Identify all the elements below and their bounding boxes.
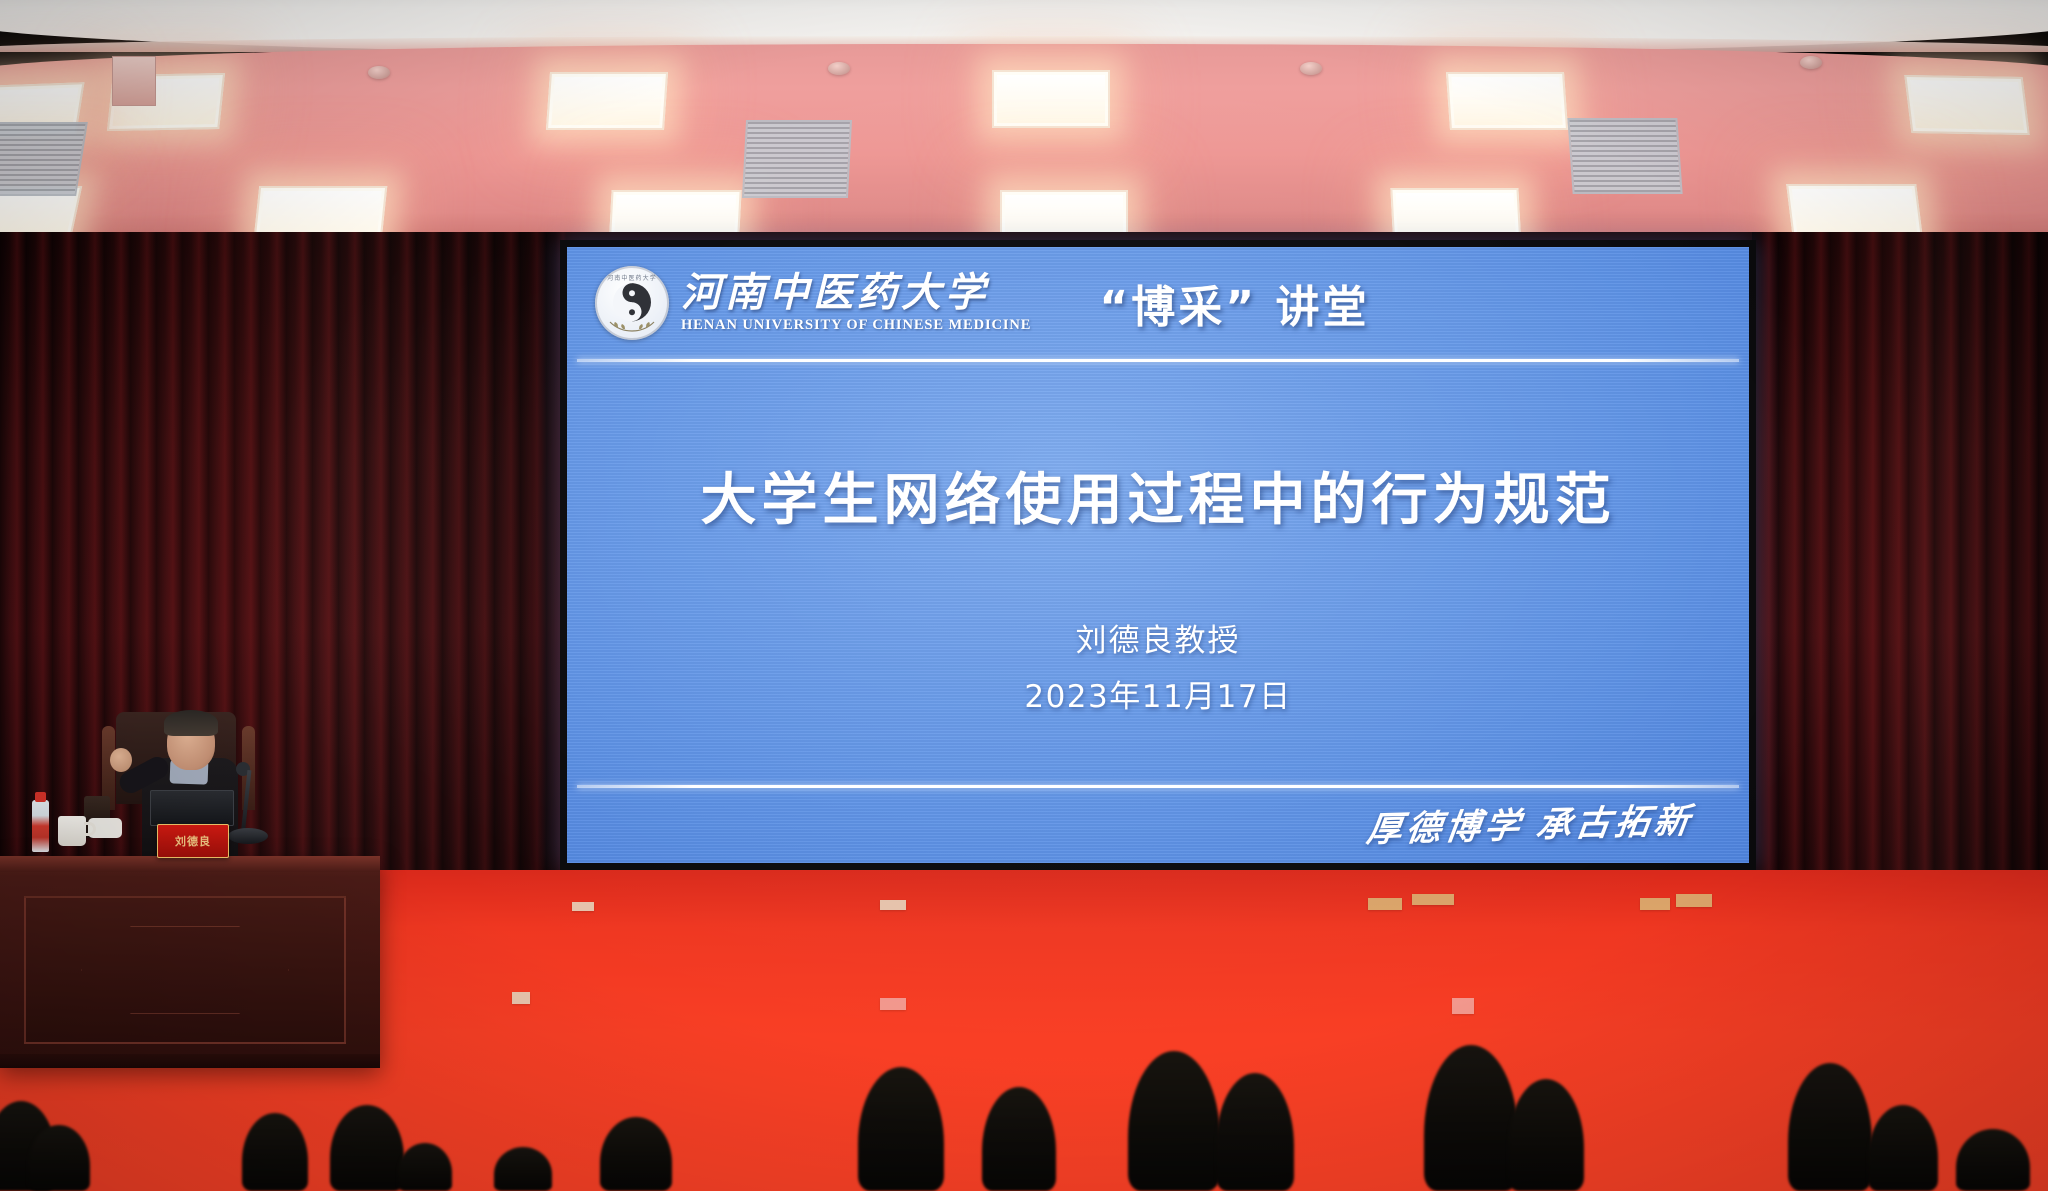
slide-main-title: 大学生网络使用过程中的行为规范 [567, 455, 1749, 536]
nameplate-text: 刘德良 [175, 833, 211, 849]
water-bottle [32, 800, 49, 852]
university-logo: 河南中医药大学 [595, 266, 669, 340]
floor-marker [880, 900, 906, 910]
speaker-hair [164, 710, 218, 736]
podium-base-trim [0, 1054, 380, 1068]
ceiling-light-panel [992, 70, 1110, 128]
podium-desktop [0, 856, 380, 872]
ceiling-speaker-box [112, 56, 156, 106]
wheat-branch-icon [606, 316, 658, 332]
slide-divider-bottom [577, 785, 1739, 788]
auditorium-scene: 河南中医药大学 河南中医药大学 [0, 0, 2048, 1191]
bottle-cap [35, 792, 46, 802]
university-wordmark: 河南中医药大学 HENAN UNIVERSITY OF CHINESE MEDI… [681, 273, 1031, 333]
taiji-dot-light [629, 290, 635, 296]
ceiling-light-panel [546, 72, 668, 130]
microphone-base [228, 828, 268, 844]
smoke-detector-icon [1300, 62, 1322, 75]
ceiling-light-panel [1904, 75, 2029, 135]
podium-diamond-inlay [81, 926, 289, 1014]
hvac-vent-grille [0, 122, 88, 196]
slide-divider-top [577, 359, 1739, 362]
floor-marker [1412, 894, 1454, 905]
floor-marker [572, 902, 594, 911]
university-name-cn: 河南中医药大学 [681, 273, 1031, 313]
podium-front-panel [24, 896, 346, 1044]
speaker-nameplate: 刘德良 [157, 824, 229, 858]
hvac-vent-grille [742, 120, 852, 198]
smoke-detector-icon [368, 66, 390, 79]
smoke-detector-icon [828, 62, 850, 75]
lecture-series-title: “博采” 讲堂 [1099, 271, 1369, 335]
presentation-slide[interactable]: 河南中医药大学 河南中医药大学 [567, 247, 1749, 863]
slide-presenter-name: 刘德良教授 [567, 615, 1749, 660]
ceramic-mug [58, 816, 86, 846]
hvac-vent-grille [1567, 118, 1682, 194]
floor-marker [1368, 898, 1402, 910]
floor-marker [1676, 894, 1712, 907]
university-name-en: HENAN UNIVERSITY OF CHINESE MEDICINE [681, 318, 1031, 333]
slide-date: 2023年11月17日 [567, 671, 1749, 716]
floor-marker [512, 992, 530, 1004]
speaker-hand [110, 748, 132, 772]
ceiling-light-panel [1446, 72, 1568, 130]
curtain-sheen [1752, 232, 2048, 872]
lecture-podium [0, 856, 380, 1066]
curtain-sheen [0, 232, 566, 872]
stage-curtain-right [1752, 232, 2048, 872]
logo-ring-text: 河南中医药大学 [607, 273, 657, 282]
school-motto-calligraphy: 厚德博学 承古拓新 [1364, 792, 1697, 852]
slide-header: 河南中医药大学 河南中医药大学 [567, 247, 1749, 359]
taiji-dot-dark [629, 309, 635, 315]
floor-marker [1452, 998, 1474, 1014]
laptop-screen [150, 790, 234, 826]
floor-marker [1640, 898, 1670, 910]
floor-marker [880, 998, 906, 1010]
led-screen-bezel: 河南中医药大学 河南中医药大学 [560, 240, 1756, 870]
stage-curtain-left [0, 232, 566, 872]
smoke-detector-icon [1800, 56, 1822, 69]
